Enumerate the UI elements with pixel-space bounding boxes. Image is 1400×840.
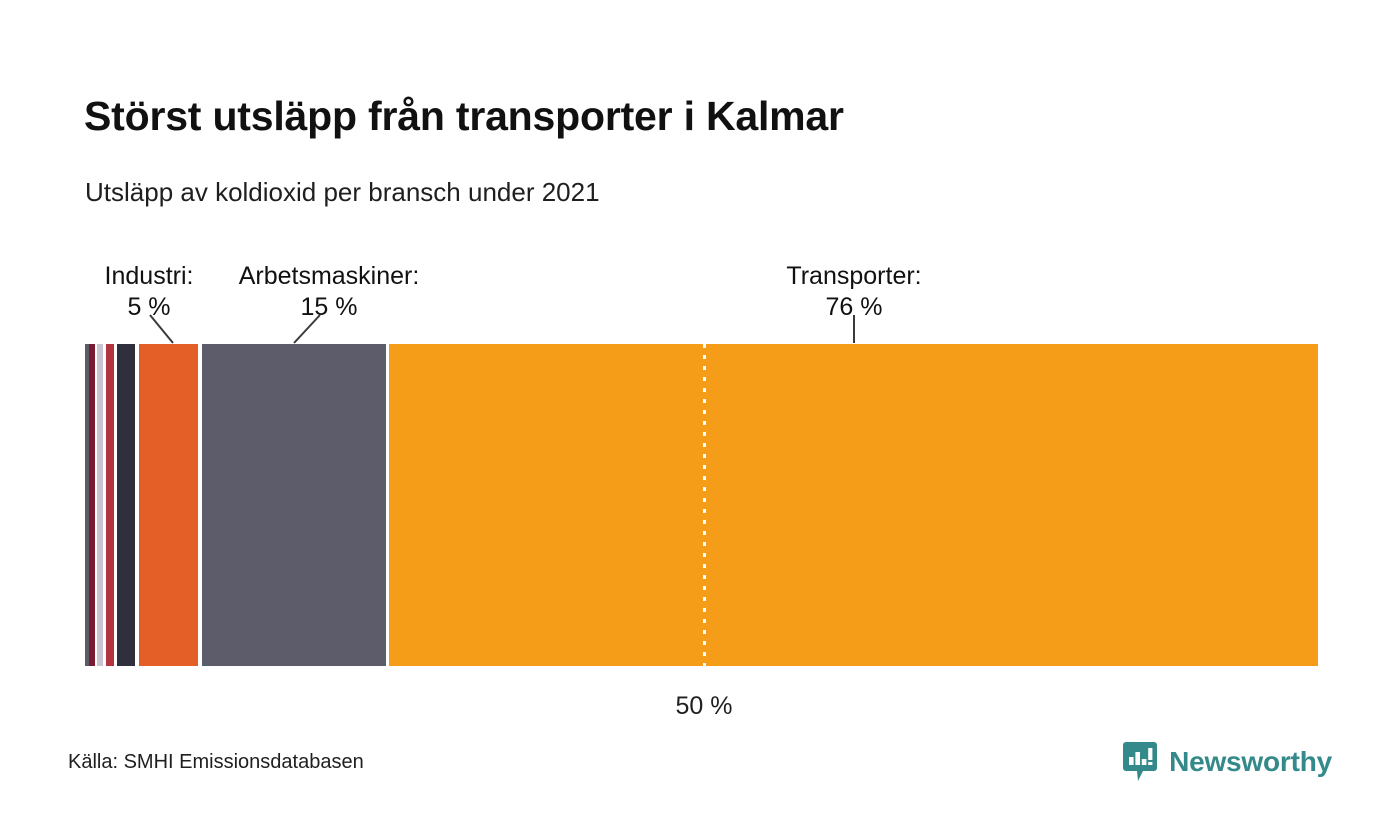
annotation-arbetsmaskiner: Arbetsmaskiner:15 % <box>239 261 420 322</box>
stacked-bar <box>85 344 1318 666</box>
newsworthy-bubble-barchart-icon <box>1123 742 1157 782</box>
leader-line-industri <box>148 313 175 345</box>
gridline-50-percent-label: 50 % <box>676 692 733 721</box>
gridline-50-percent <box>703 344 706 666</box>
annotation-transporter-label: Transporter: <box>786 261 921 292</box>
bar-seg-3 <box>97 344 103 666</box>
bar-seg-industri <box>139 344 198 666</box>
bar-seg-transporter <box>389 344 1318 666</box>
bar-seg-4 <box>106 344 114 666</box>
annotation-arbetsmaskiner-value: 15 % <box>239 292 420 323</box>
bar-seg-5 <box>117 344 135 666</box>
bar-seg-arbetsmaskiner <box>202 344 386 666</box>
brand-logo: Newsworthy <box>1123 740 1332 784</box>
bar-seg-2 <box>89 344 95 666</box>
chart-container: Störst utsläpp från transporter i Kalmar… <box>0 0 1400 840</box>
chart-subtitle: Utsläpp av koldioxid per bransch under 2… <box>85 177 1325 208</box>
chart-title: Störst utsläpp från transporter i Kalmar <box>84 93 1324 140</box>
annotation-industri-label: Industri: <box>105 261 194 292</box>
source-note: Källa: SMHI Emissionsdatabasen <box>68 751 364 774</box>
leader-line-transporter <box>852 313 856 345</box>
leader-line-arbetsmaskiner <box>292 313 322 345</box>
annotation-arbetsmaskiner-label: Arbetsmaskiner: <box>239 261 420 292</box>
brand-name: Newsworthy <box>1169 746 1332 778</box>
